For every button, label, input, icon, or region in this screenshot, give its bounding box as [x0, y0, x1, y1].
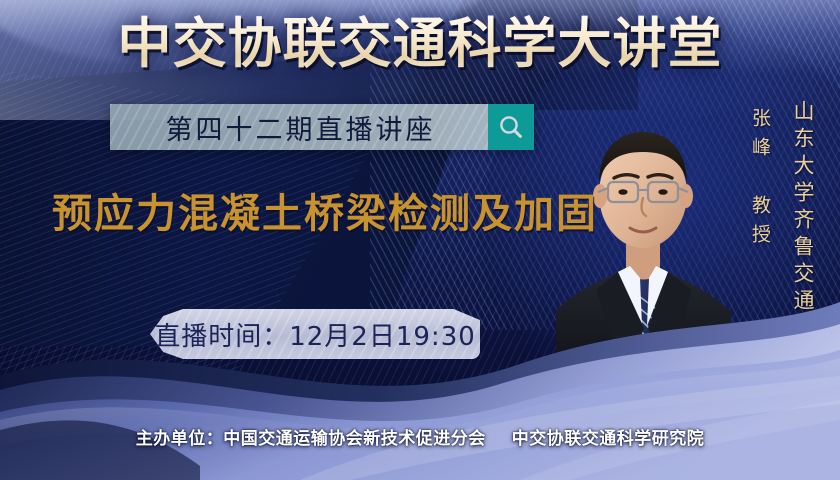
series-bar: 第四十二期直播讲座: [110, 104, 534, 150]
footer-organizer-2: 中交协联交通科学研究院: [512, 429, 705, 449]
background-bottom-silk: [0, 280, 840, 480]
footer-organizers: 主办单位：中国交通运输协会新技术促进分会中交协联交通科学研究院: [0, 424, 840, 449]
search-icon[interactable]: [488, 104, 534, 150]
series-label: 第四十二期直播讲座: [110, 104, 488, 150]
footer-organizer-1: 中国交通运输协会新技术促进分会: [223, 429, 486, 449]
lecture-title: 预应力混凝土桥梁检测及加固: [52, 188, 598, 240]
live-lecture-poster: 中交协联交通科学大讲堂 第四十二期直播讲座 预应力混凝土桥梁检测及加固 直播时间…: [0, 0, 840, 480]
speaker-name: 张峰 教授: [747, 108, 774, 253]
page-title: 中交协联交通科学大讲堂: [0, 14, 840, 74]
footer-prefix: 主办单位：: [136, 429, 224, 449]
